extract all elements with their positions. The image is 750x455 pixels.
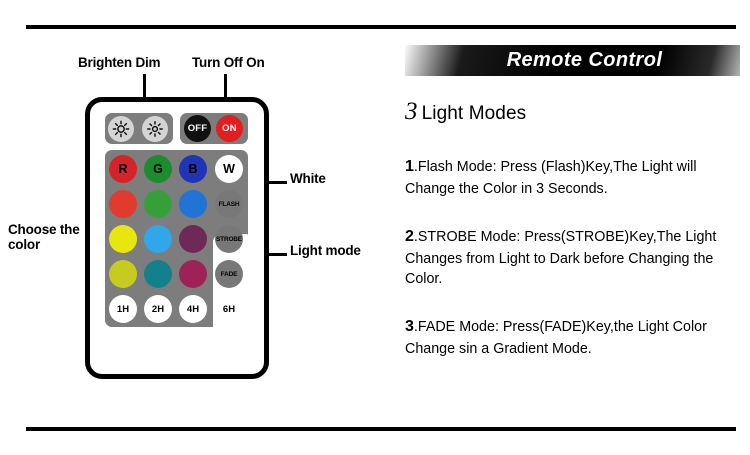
color-key-r4c2[interactable] [144,260,172,288]
label-brighten-dim: Brighten Dim [78,55,160,70]
bottom-divider [26,427,736,431]
mode-text-1: .Flash Mode: Press (Flash)Key,The Light … [405,159,697,197]
heading-text: Light Modes [422,103,527,124]
timer-key-6h[interactable]: 6H [215,295,243,323]
label-choose-the-color: Choose the color [8,222,86,252]
label-turn-off-on: Turn Off On [192,55,265,70]
mode-description-2: 2.STROBE Mode: Press(STROBE)Key,The Ligh… [405,226,737,289]
color-key-g[interactable]: G [144,155,172,183]
power-on-button[interactable]: ON [216,115,243,142]
color-key-r4c3[interactable] [179,260,207,288]
mode-key-flash[interactable]: FLASH [215,190,243,218]
mode-description-1: 1.Flash Mode: Press (Flash)Key,The Light… [405,156,737,199]
power-key-panel: OFF ON [180,113,248,144]
color-key-r3c2[interactable] [144,225,172,253]
color-key-r2c3[interactable] [179,190,207,218]
mode-key-fade[interactable]: FADE [215,260,243,288]
sun-small-icon[interactable] [142,116,168,142]
mode-number-2: 2 [405,228,414,245]
mode-text-3: .FADE Mode: Press(FADE)Key,the Light Col… [405,319,707,357]
color-key-b[interactable]: B [179,155,207,183]
color-key-r2c2[interactable] [144,190,172,218]
mode-number-3: 3 [405,318,414,335]
top-divider [26,25,736,29]
color-key-r3c3[interactable] [179,225,207,253]
remote-control-banner: Remote Control [405,45,740,76]
mode-text-2: .STROBE Mode: Press(STROBE)Key,The Light… [405,229,716,287]
color-key-r[interactable]: R [109,155,137,183]
timer-key-2h[interactable]: 2H [144,295,172,323]
color-key-r4c1[interactable] [109,260,137,288]
timer-key-1h[interactable]: 1H [109,295,137,323]
banner-title: Remote Control [405,45,740,76]
remote-control-infographic: Brighten Dim Turn Off On Choose the colo… [0,0,750,455]
mode-number-1: 1 [405,158,414,175]
power-off-button[interactable]: OFF [184,115,211,142]
label-white: White [290,171,326,186]
remote-control-device: OFF ON RGBWFLASHSTROBEFADE1H2H4H6H [85,97,269,379]
color-key-r2c1[interactable] [109,190,137,218]
mode-key-strobe[interactable]: STROBE [215,225,243,253]
color-key-r3c1[interactable] [109,225,137,253]
light-modes-heading: 3Light Modes [405,98,740,126]
timer-key-4h[interactable]: 4H [179,295,207,323]
heading-number: 3 [405,98,422,125]
right-text-column: Remote Control 3Light Modes 1.Flash Mode… [405,45,740,359]
mode-description-3: 3.FADE Mode: Press(FADE)Key,the Light Co… [405,316,737,359]
color-key-w[interactable]: W [215,155,243,183]
sun-icon[interactable] [108,116,134,142]
keypad-panel: RGBWFLASHSTROBEFADE1H2H4H6H [105,150,248,327]
label-light-mode: Light mode [290,243,361,258]
brightness-key-panel [105,113,173,144]
